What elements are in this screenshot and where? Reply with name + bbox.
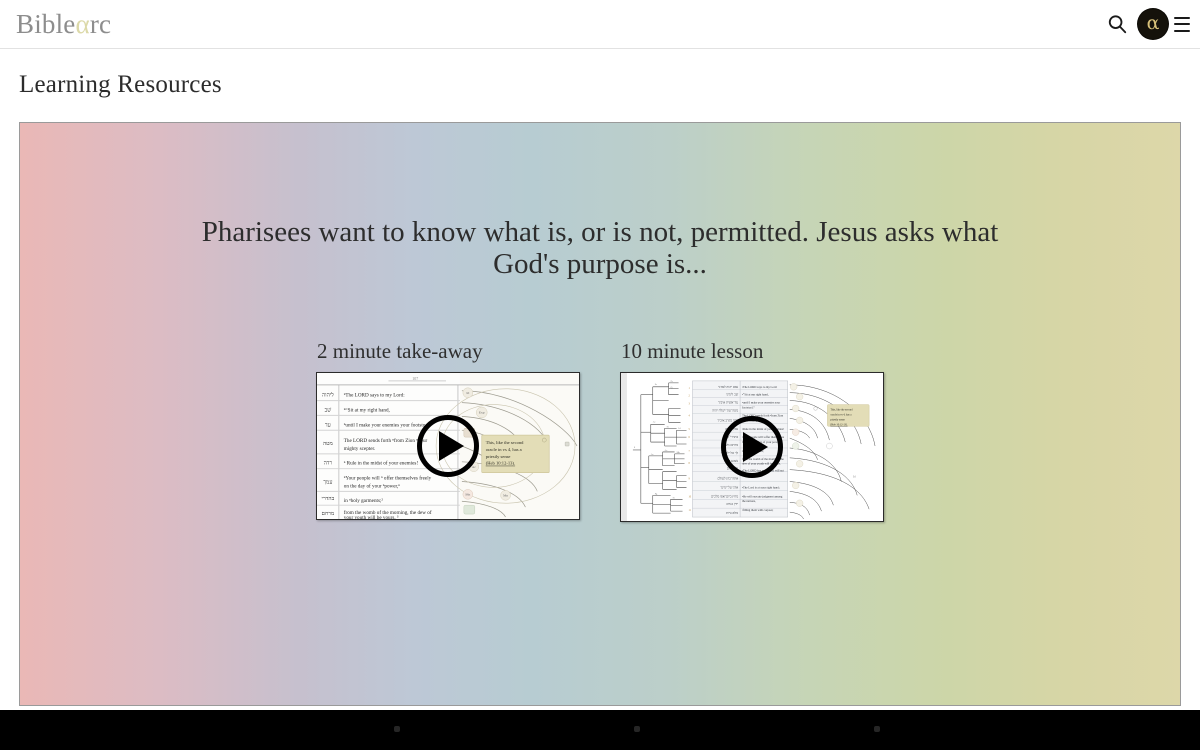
video-card-2-minute-take-away: 2 minute take-away 107 (316, 339, 580, 520)
svg-text:Id: Id (466, 391, 469, 395)
svg-text:Sr: Sr (667, 425, 669, 428)
svg-text:mighty scepter.: mighty scepter. (344, 446, 375, 452)
svg-text:בהדרי: בהדרי (322, 496, 335, 502)
svg-text:Ac: Ac (472, 465, 477, 469)
brand-logo-alpha: α (76, 9, 90, 39)
svg-text:ⁿ Rule in the midst of your en: ⁿ Rule in the midst of your enemies! (344, 460, 419, 467)
brand-logo-suffix: rc (90, 9, 111, 39)
svg-text:Sr: Sr (673, 496, 675, 499)
svg-text:שׁב לימיני: שׁב לימיני (726, 393, 739, 397)
svg-text:ⁿuntil I make your enemies you: ⁿuntil I make your enemies your (742, 401, 780, 405)
video-card-label: 2 minute take-away (317, 339, 580, 364)
svg-text:(Heb 10:12-13).: (Heb 10:12-13). (486, 461, 515, 466)
svg-text:your youth will be yours. ³: your youth will be yours. ³ (344, 515, 399, 519)
svg-text:Mn: Mn (465, 493, 470, 497)
svg-text:עמך: עמך (323, 479, 332, 485)
svg-text:ⁿHe will execute judgment amon: ⁿHe will execute judgment among (742, 494, 783, 498)
svg-text:רדה: רדה (324, 461, 333, 467)
avatar-alpha-glyph: α (1147, 14, 1160, 33)
svg-text:Exp: Exp (479, 411, 485, 415)
svg-text:Ac: Ac (651, 453, 654, 456)
play-button-icon[interactable] (721, 416, 783, 478)
video-card-label: 10 minute lesson (621, 339, 884, 364)
svg-text:עד־אשׁית איביך: עד־אשׁית איביך (718, 401, 738, 405)
recents-button[interactable] (874, 726, 880, 732)
svg-text:on the day of your ⁿpower,ⁿ: on the day of your ⁿpower,ⁿ (344, 482, 401, 489)
svg-text:ⁿYour people will ⁿ offer them: ⁿYour people will ⁿ offer themselves fre… (344, 475, 432, 482)
home-button[interactable] (634, 726, 640, 732)
svg-text:מרחם: מרחם (322, 511, 335, 517)
video-thumbnail-10-minute[interactable]: SrPrQ AcSrId AcAcMn PgSr S (620, 372, 884, 522)
svg-text:ⁿ“Sit at my right hand,: ⁿ“Sit at my right hand, (344, 406, 390, 413)
svg-text:oracle in vs 4, has a: oracle in vs 4, has a (830, 413, 852, 416)
top-app-bar: Bibleαrc α (0, 0, 1200, 49)
hamburger-line-2 (1174, 23, 1190, 25)
search-icon[interactable] (1106, 13, 1128, 35)
hamburger-line-3 (1174, 30, 1190, 32)
learning-resource-hero-panel: Pharisees want to know what is, or is no… (19, 122, 1181, 706)
svg-text:אדני על־ימינך: אדני על־ימינך (720, 485, 738, 489)
svg-text:in ⁿholy garments;²: in ⁿholy garments;² (344, 498, 384, 504)
page-title: Learning Resources (19, 71, 222, 99)
svg-text:The LORD sends forth ⁿfrom Zio: The LORD sends forth ⁿfrom Zion ⁿyour (344, 437, 428, 444)
svg-text:Q: Q (671, 386, 673, 389)
back-button[interactable] (394, 726, 400, 732)
svg-text:(Heb 10:12-13).: (Heb 10:12-13). (830, 423, 848, 426)
hamburger-menu-icon[interactable] (1174, 17, 1190, 32)
svg-text:ⁿThe LORD says to my Lord:: ⁿThe LORD says to my Lord: (344, 393, 405, 399)
svg-text:מחץ ביום־אפו מלכים: מחץ ביום־אפו מלכים (711, 494, 738, 498)
svg-text:107: 107 (412, 376, 418, 381)
play-button-icon[interactable] (417, 415, 479, 477)
svg-text:ⁿfilling them with corpses;: ⁿfilling them with corpses; (742, 508, 773, 512)
avatar[interactable]: α (1138, 9, 1168, 39)
svg-text:Sr: Sr (655, 383, 657, 386)
svg-text:מלא גויות: מלא גויות (726, 511, 738, 515)
svg-text:priestly sense: priestly sense (830, 418, 845, 421)
svg-text:ⁿuntil I make your enemies you: ⁿuntil I make your enemies your footstoo… (344, 421, 434, 428)
svg-text:עד: עד (325, 422, 331, 428)
svg-text:ליהוה: ליהוה (322, 392, 334, 399)
svg-text:מטה: מטה (323, 441, 333, 447)
svg-text:priestly sense: priestly sense (486, 454, 511, 459)
svg-text:This, like the second: This, like the second (830, 408, 853, 411)
svg-text:שׁב: שׁב (325, 407, 332, 413)
top-bar-actions: α (1106, 9, 1190, 39)
svg-text:מטה־עזך ישׁלח יהוה: מטה־עזך ישׁלח יהוה (712, 408, 738, 412)
svg-text:ⁿThe Lord is at your right han: ⁿThe Lord is at your right hand; (742, 485, 780, 489)
system-navigation-bar (0, 710, 1200, 750)
svg-text:Mn: Mn (503, 494, 508, 498)
svg-text:ידין בגוים: ידין בגוים (726, 502, 738, 506)
svg-text:נאם יהוה לאדני: נאם יהוה לאדני (718, 385, 738, 389)
video-thumbnail-2-minute[interactable]: 107 (316, 372, 580, 520)
brand-logo-prefix: Bible (16, 9, 76, 39)
svg-text:footstool.”: footstool.” (742, 406, 755, 410)
svg-text:Ac: Ac (653, 420, 656, 423)
svg-text:Ac: Ac (665, 449, 668, 452)
video-card-10-minute-lesson: 10 minute lesson (620, 339, 884, 522)
svg-text:ⁿThe LORD says to my Lord:: ⁿThe LORD says to my Lord: (742, 385, 777, 389)
hero-heading: Pharisees want to know what is, or is no… (20, 217, 1180, 281)
video-card-list: 2 minute take-away 107 (316, 339, 884, 522)
svg-text:אתה־כהן לעולם: אתה־כהן לעולם (717, 477, 738, 481)
hamburger-line-1 (1174, 17, 1190, 19)
svg-text:Pr: Pr (671, 380, 673, 383)
brand-logo[interactable]: Bibleαrc (16, 9, 111, 40)
